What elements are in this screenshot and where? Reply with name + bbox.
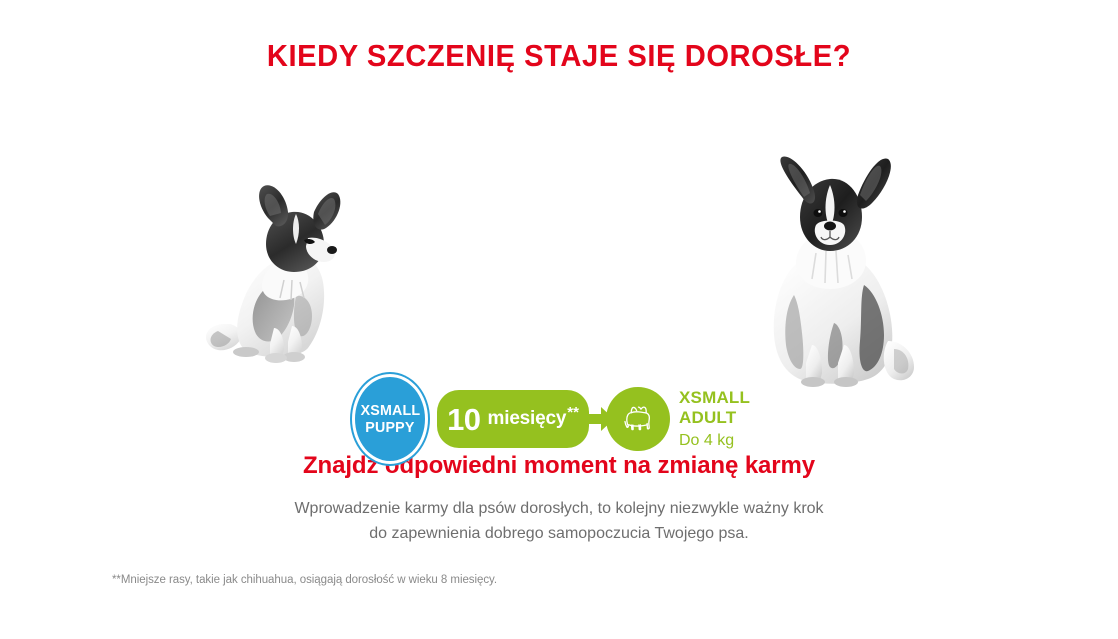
badge-puppy-line1: XSMALL [360, 402, 420, 419]
adult-dog-photo [738, 155, 918, 390]
page-title: KIEDY SZCZENIĘ STAJE SIĘ DOROSŁE? [34, 38, 1085, 74]
adult-label-weight: Do 4 kg [679, 430, 750, 452]
body-copy-line2: do zapewnienia dobrego samopoczucia Twoj… [0, 521, 1118, 546]
dog-silhouette-icon [619, 400, 657, 438]
duration-pill: 10 miesięcy ** [437, 390, 589, 448]
duration-footnote-marker: ** [567, 405, 579, 420]
section-subtitle: Znajdź odpowiedni moment na zmianę karmy [0, 452, 1118, 480]
body-copy-line1: Wprowadzenie karmy dla psów dorosłych, t… [0, 496, 1118, 521]
lifestage-infographic: XSMALL PUPPY 10 miesięcy ** XSMALL A [0, 150, 1118, 400]
adult-label: XSMALL ADULT Do 4 kg [679, 388, 750, 452]
badge-xsmall-adult [606, 387, 670, 451]
body-copy: Wprowadzenie karmy dla psów dorosłych, t… [0, 496, 1118, 546]
adult-label-line2: ADULT [679, 408, 750, 428]
infographic-page: KIEDY SZCZENIĘ STAJE SIĘ DOROSŁE? [0, 0, 1118, 639]
duration-unit: miesięcy [488, 408, 567, 430]
footnote-text: **Mniejsze rasy, takie jak chihuahua, os… [112, 574, 497, 586]
duration-number: 10 [447, 404, 480, 435]
badge-xsmall-puppy: XSMALL PUPPY [352, 374, 428, 464]
puppy-photo [196, 176, 366, 376]
badge-puppy-line2: PUPPY [365, 419, 414, 436]
adult-label-line1: XSMALL [679, 388, 750, 408]
